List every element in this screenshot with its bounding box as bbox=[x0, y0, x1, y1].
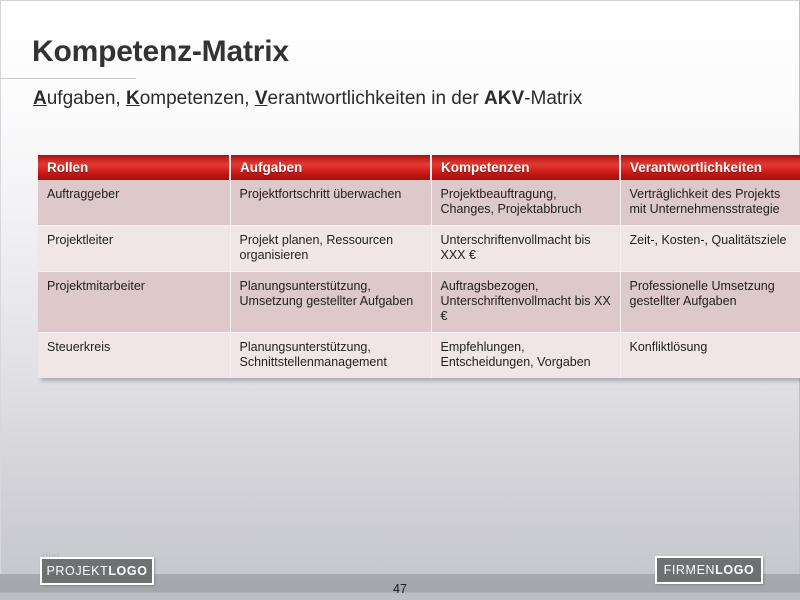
page-number: 47 bbox=[0, 582, 800, 596]
subtitle-initial-v: V bbox=[255, 88, 268, 109]
cell-verantwortlichkeiten: Zeit-, Kosten-, Qualitätsziele bbox=[620, 226, 800, 272]
cell-rolle: Auftraggeber bbox=[38, 180, 230, 226]
table-row: Auftraggeber Projektfortschritt überwach… bbox=[38, 180, 800, 226]
firmen-logo-text-bold: LOGO bbox=[715, 563, 754, 577]
cell-verantwortlichkeiten: Professionelle Umsetzung gestellter Aufg… bbox=[620, 272, 800, 333]
cell-aufgaben: Projektfortschritt überwachen bbox=[230, 180, 431, 226]
firmen-logo: FIRMENLOGO bbox=[655, 556, 763, 584]
subtitle-text-aufgaben: ufgaben, bbox=[47, 88, 126, 109]
column-header-aufgaben: Aufgaben bbox=[230, 155, 431, 180]
subtitle-text-verantwortlichkeiten: erantwortlichkeiten in der bbox=[268, 88, 485, 109]
cell-verantwortlichkeiten: Verträglichkeit des Projekts mit Unterne… bbox=[620, 180, 800, 226]
slide: Kompetenz-Matrix Aufgaben, Kompetenzen, … bbox=[0, 0, 800, 600]
subtitle-initial-k: K bbox=[126, 88, 140, 109]
slide-frame-top-edge bbox=[0, 0, 800, 1]
subtitle-initial-a: A bbox=[33, 88, 47, 109]
matrix-header-row: Rollen Aufgaben Kompetenzen Verantwortli… bbox=[38, 155, 800, 180]
matrix-body: Auftraggeber Projektfortschritt überwach… bbox=[38, 180, 800, 378]
table-row: Projektmitarbeiter Planungsunterstützung… bbox=[38, 272, 800, 333]
cell-kompetenzen: Empfehlungen, Entscheidungen, Vorgaben bbox=[431, 333, 620, 379]
cell-rolle: Projektmitarbeiter bbox=[38, 272, 230, 333]
title-underline-rule bbox=[0, 78, 136, 79]
column-header-verantwortlichkeiten: Verantwortlichkeiten bbox=[620, 155, 800, 180]
cell-verantwortlichkeiten: Konfliktlösung bbox=[620, 333, 800, 379]
table-row: Projektleiter Projekt planen, Ressourcen… bbox=[38, 226, 800, 272]
matrix-header: Rollen Aufgaben Kompetenzen Verantwortli… bbox=[38, 155, 800, 180]
column-header-kompetenzen: Kompetenzen bbox=[431, 155, 620, 180]
cell-kompetenzen: Projektbeauftragung, Changes, Projektabb… bbox=[431, 180, 620, 226]
firmen-logo-text-normal: FIRMEN bbox=[664, 563, 716, 577]
projekt-logo-text-bold: LOGO bbox=[108, 564, 147, 578]
projekt-logo-text-normal: PROJEKT bbox=[46, 564, 108, 578]
cell-aufgaben: Planungsunterstützung, Umsetzung gestell… bbox=[230, 272, 431, 333]
kompetenz-matrix-container: Rollen Aufgaben Kompetenzen Verantwortli… bbox=[38, 155, 762, 378]
slide-frame-left-edge bbox=[0, 0, 1, 600]
cell-aufgaben: Planungsunterstützung, Schnittstellenman… bbox=[230, 333, 431, 379]
table-row: Steuerkreis Planungsunterstützung, Schni… bbox=[38, 333, 800, 379]
page-subtitle: Aufgaben, Kompetenzen, Verantwortlichkei… bbox=[33, 88, 582, 110]
page-title: Kompetenz-Matrix bbox=[32, 35, 289, 69]
subtitle-text-tail: -Matrix bbox=[524, 88, 582, 109]
kompetenz-matrix-table: Rollen Aufgaben Kompetenzen Verantwortli… bbox=[38, 155, 800, 378]
subtitle-text-kompetenzen: ompetenzen, bbox=[140, 88, 255, 109]
projekt-logo: PROJEKTLOGO bbox=[40, 557, 154, 585]
column-header-rollen: Rollen bbox=[38, 155, 230, 180]
subtitle-akv-abbreviation: AKV bbox=[484, 88, 524, 109]
cell-kompetenzen: Auftragsbezogen, Unterschriftenvollmacht… bbox=[431, 272, 620, 333]
cell-rolle: Projektleiter bbox=[38, 226, 230, 272]
cell-rolle: Steuerkreis bbox=[38, 333, 230, 379]
cell-aufgaben: Projekt planen, Ressourcen organisieren bbox=[230, 226, 431, 272]
cell-kompetenzen: Unterschriftenvollmacht bis XXX € bbox=[431, 226, 620, 272]
